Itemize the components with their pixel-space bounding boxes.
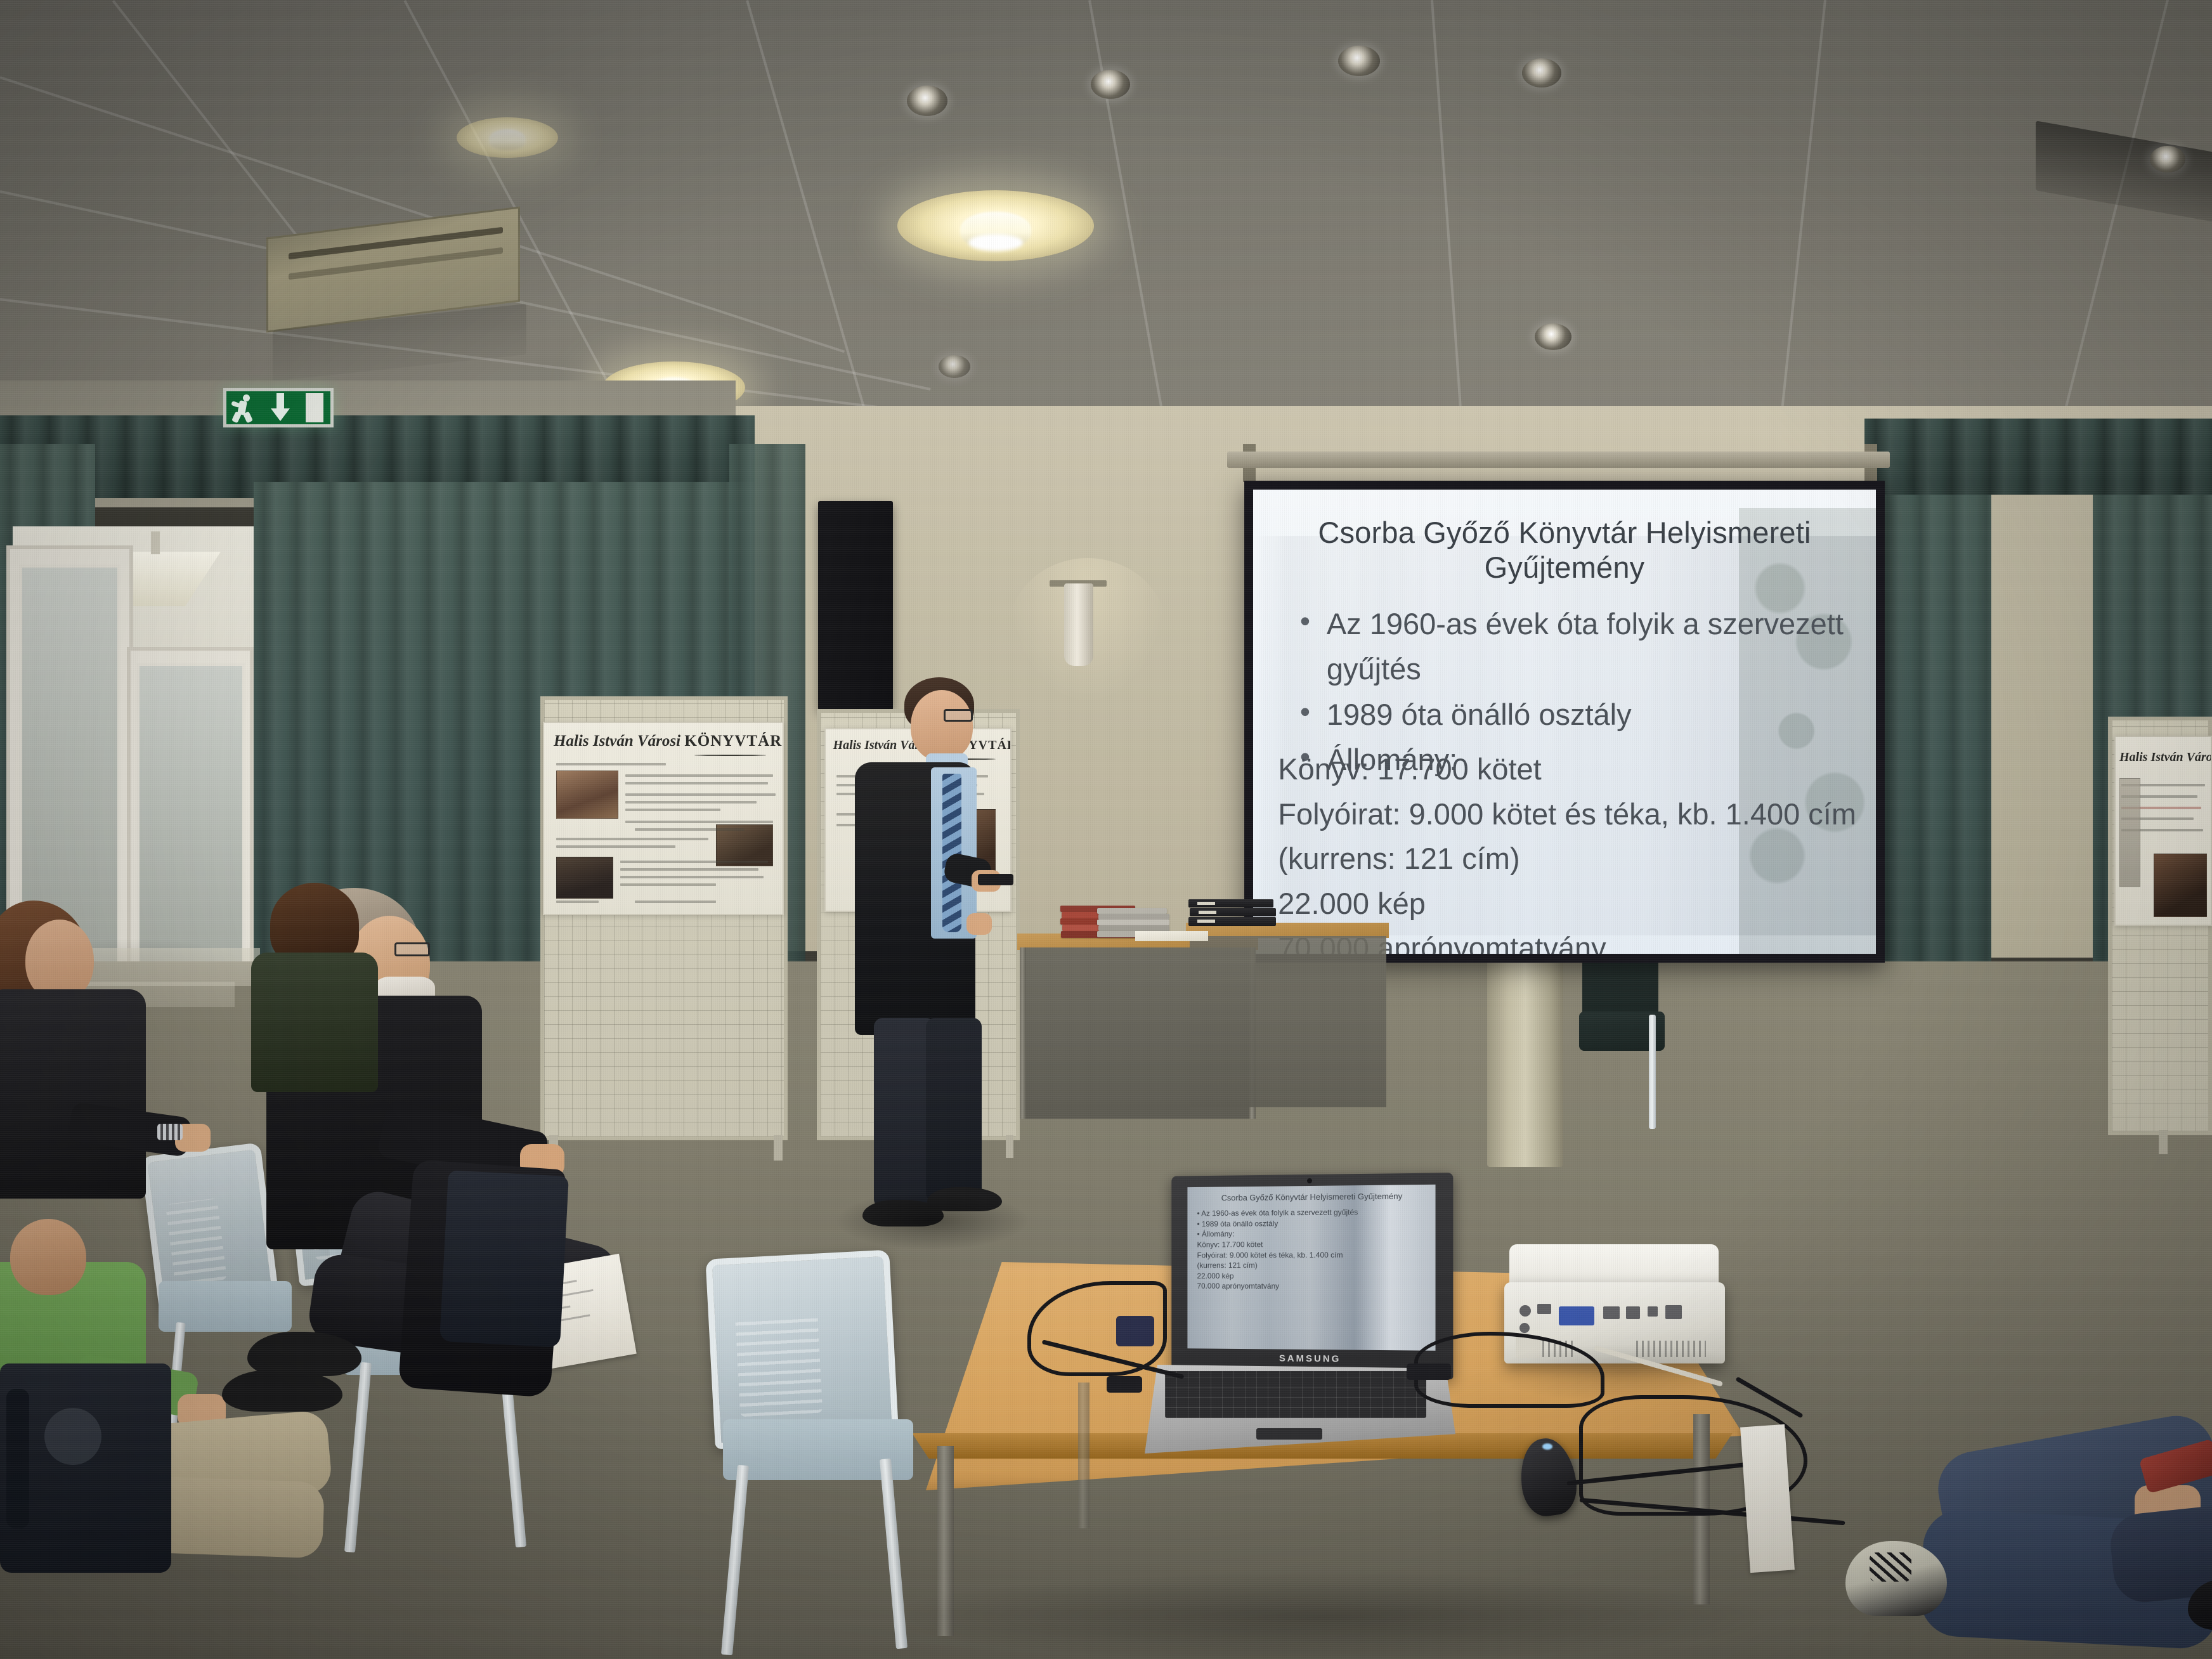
- slide-title: Csorba Győző Könyvtár Helyismereti Gyűjt…: [1253, 515, 1876, 585]
- laptop-screen[interactable]: Csorba Győző Könyvtár Helyismereti Gyűjt…: [1187, 1185, 1435, 1351]
- ceiling-spotlight: [939, 355, 970, 378]
- poster-text-line: [625, 793, 776, 796]
- slide-detail-item: Könyv: 17.700 kötet: [1278, 747, 1857, 792]
- emergency-exit-icon: [223, 388, 334, 427]
- usb-dongle: [1107, 1376, 1142, 1393]
- ceiling-spotlight: [1522, 58, 1561, 88]
- poster-text-line: [625, 809, 720, 811]
- poster-text-line: [620, 883, 715, 886]
- backpack-logo: [44, 1408, 101, 1465]
- presentation-table-shadow: [888, 1573, 1763, 1659]
- slide-detail-item: 22.000 kép: [1278, 882, 1857, 927]
- book: [1097, 908, 1167, 914]
- mouse-led-indicator: [1542, 1443, 1552, 1450]
- poster-title-rule: [694, 755, 766, 756]
- poster-sheet-left: Halis István Városi KÖNYVTÁR: [543, 722, 784, 915]
- slide-content: Csorba Győző Könyvtár Helyismereti Gyűjt…: [1253, 490, 1876, 954]
- binder-label: [1199, 911, 1216, 914]
- running-man-icon: [233, 393, 255, 422]
- laptop-slide-title: Csorba Győző Könyvtár Helyismereti Gyűjt…: [1197, 1191, 1428, 1203]
- poster-text-line: [635, 828, 745, 831]
- laptop-touchpad[interactable]: [1256, 1428, 1322, 1440]
- projection-screen-surface: Csorba Győző Könyvtár Helyismereti Gyűjt…: [1253, 490, 1876, 954]
- pendant-lamp-stem: [151, 531, 160, 554]
- poster-title-italic: Halis István Városi: [2119, 750, 2212, 764]
- book: [1098, 925, 1169, 931]
- poster-photo: [556, 771, 618, 818]
- shoulder-bag: [439, 1170, 569, 1348]
- poster-board-leg: [774, 1135, 783, 1161]
- projector-port[interactable]: [1519, 1323, 1530, 1333]
- binder-label: [1197, 902, 1215, 905]
- backpack: [0, 1363, 171, 1573]
- audience-member: [251, 883, 403, 1086]
- projector-port[interactable]: [1603, 1306, 1620, 1319]
- poster-text-line: [556, 845, 675, 848]
- poster-text-line: [620, 868, 758, 871]
- laptop-slide-line: • Állomány:: [1197, 1228, 1428, 1239]
- presenter-necktie: [942, 774, 961, 932]
- binder: [1188, 899, 1273, 908]
- projector-port[interactable]: [1519, 1305, 1531, 1317]
- wall-sconce-light: [1064, 583, 1093, 666]
- ceiling-downlight: [457, 117, 558, 158]
- projector-port[interactable]: [1648, 1306, 1658, 1317]
- slide-detail-item: Folyóirat: 9.000 kötet és téka, kb. 1.40…: [1278, 792, 1857, 837]
- projector-port[interactable]: [1665, 1305, 1682, 1319]
- presentation-clicker[interactable]: [978, 874, 1013, 885]
- presenter-head: [911, 690, 973, 761]
- chair-back-slots: [736, 1313, 823, 1417]
- presenter: [837, 672, 1027, 1230]
- ceiling-spotlight: [1338, 46, 1380, 76]
- laptop-slide-line: (kurrens: 121 cím): [1197, 1260, 1428, 1271]
- slide-detail-item: (kurrens: 121 cím): [1278, 836, 1857, 882]
- papers-on-table: [1135, 931, 1208, 941]
- down-arrow-icon: [270, 393, 291, 422]
- laptop-slide-text: Csorba Győző Könyvtár Helyismereti Gyűjt…: [1197, 1191, 1428, 1292]
- exit-sign-blank-panel: [306, 393, 323, 422]
- sneaker-laces: [1870, 1552, 1911, 1582]
- poster-text-line: [625, 801, 757, 803]
- poster-title-italic: Halis István Városi: [554, 732, 680, 750]
- poster-text-line: [556, 838, 709, 840]
- binder: [1190, 908, 1276, 916]
- presenter-leg: [926, 1018, 982, 1202]
- poster-text-line: [556, 763, 666, 765]
- poster-title-smallcaps: KÖNYVTÁR: [684, 732, 782, 750]
- binder-label: [1197, 920, 1215, 923]
- laptop-keyboard[interactable]: [1165, 1371, 1426, 1418]
- audience-member: [2112, 1509, 2212, 1659]
- poster-text-line: [620, 861, 768, 863]
- concrete-column: [1487, 945, 1563, 1167]
- slide-bullet-item: Az 1960-as évek óta folyik a szervezett …: [1294, 601, 1851, 692]
- poster-text-line: [625, 782, 769, 784]
- ceiling-downlight: [897, 190, 1094, 261]
- poster-text-line: [620, 876, 764, 878]
- laptop-lid: Csorba Győző Könyvtár Helyismereti Gyűjt…: [1171, 1173, 1453, 1379]
- side-table-panel-extension: [1190, 936, 1386, 1107]
- book: [1098, 914, 1169, 920]
- laptop-slide-line: 22.000 kép: [1197, 1270, 1428, 1281]
- audience-torso: [251, 953, 378, 1092]
- poster-photo: [2119, 778, 2140, 887]
- book: [1097, 920, 1169, 925]
- conference-room-scene: Csorba Győző Könyvtár Helyismereti Gyűjt…: [0, 0, 2212, 1659]
- poster-title: Halis István Városi: [2119, 750, 2207, 765]
- ceiling-spotlight: [1091, 70, 1130, 99]
- laptop-slide-line: • 1989 óta önálló osztály: [1197, 1218, 1428, 1230]
- ceiling-spotlight: [1535, 323, 1571, 350]
- poster-title: Halis István Városi KÖNYVTÁR: [554, 732, 773, 750]
- audience-head: [10, 1219, 86, 1295]
- poster-sheet-right: Halis István Városi: [2114, 736, 2212, 926]
- poster-board-leg: [2159, 1130, 2168, 1154]
- audience-wristwatch: [157, 1124, 183, 1140]
- presenter-floor-shadow: [837, 1192, 1027, 1249]
- screen-roller-housing: [1227, 452, 1890, 468]
- presentation-table-leg: [1078, 1382, 1090, 1528]
- laptop-slide-line: Könyv: 17.700 kötet: [1197, 1239, 1428, 1250]
- laptop-webcam-icon: [1307, 1178, 1312, 1183]
- projector-port[interactable]: [1537, 1304, 1551, 1314]
- chair-behind-screen-leg: [1649, 1015, 1656, 1129]
- adapter-block: [1116, 1316, 1154, 1346]
- ceiling-spotlight: [907, 86, 947, 116]
- audience-torso: [0, 989, 146, 1199]
- presenter-glasses: [944, 709, 973, 722]
- poster-photo: [2154, 854, 2207, 918]
- projector-vga-port[interactable]: [1559, 1306, 1594, 1325]
- audience-head: [25, 920, 94, 1001]
- ceiling-spotlight: [2150, 146, 2185, 172]
- laptop-slide-line: Folyóirat: 9.000 kötet és téka, kb. 1.40…: [1197, 1249, 1428, 1260]
- projector-port[interactable]: [1626, 1306, 1640, 1319]
- binder: [1188, 917, 1276, 926]
- laptop-slide-line: 70.000 aprónyomtatvány: [1197, 1281, 1428, 1292]
- slide-bullet-item: 1989 óta önálló osztály: [1294, 692, 1851, 737]
- presenter-hand: [966, 913, 992, 935]
- curtain-pelmet-right: [1864, 419, 2212, 495]
- backpack-strap: [6, 1389, 29, 1528]
- poster-text-line: [625, 821, 773, 823]
- usb-dongle: [1407, 1363, 1451, 1380]
- poster-text-line: [625, 774, 773, 777]
- binder-stack: [1188, 899, 1277, 927]
- projection-screen: Csorba Győző Könyvtár Helyismereti Gyűjt…: [1244, 481, 1885, 963]
